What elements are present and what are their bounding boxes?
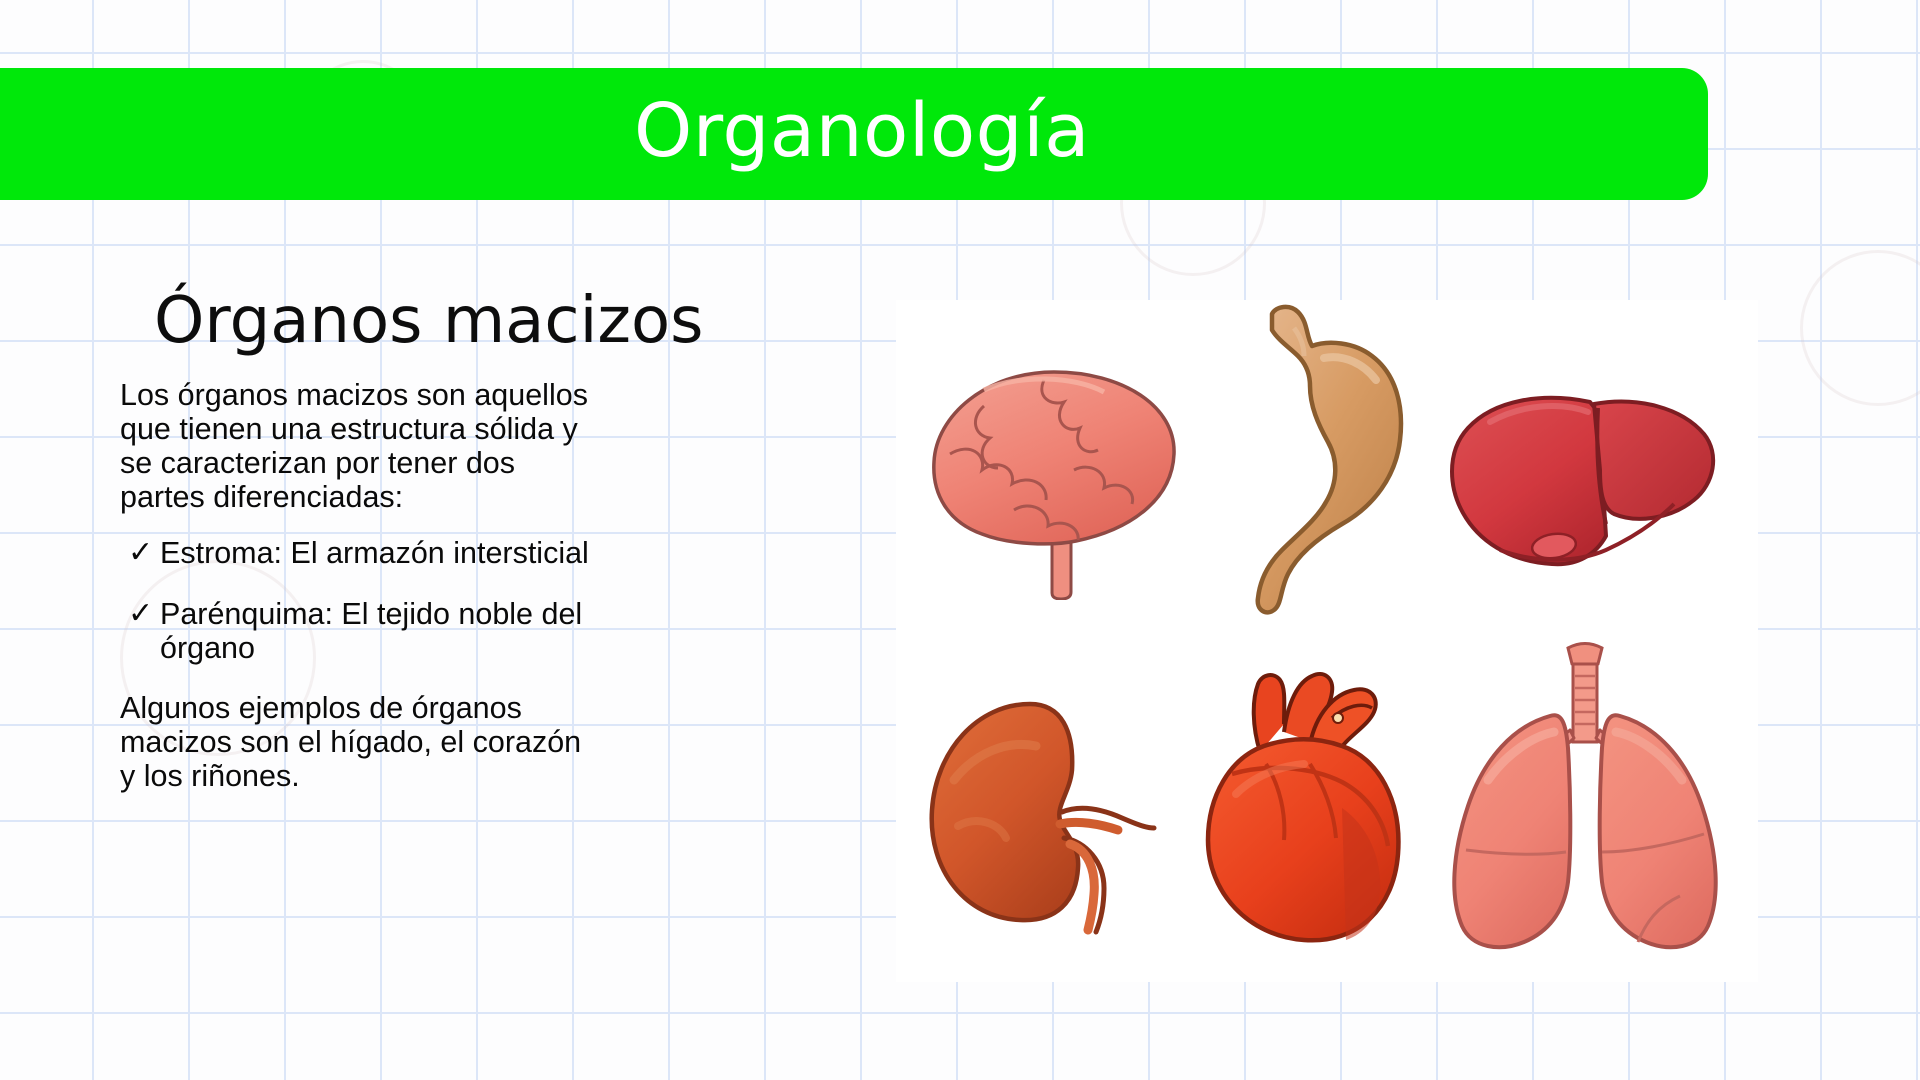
closing-paragraph: Algunos ejemplos de órganos macizos son … (120, 691, 760, 793)
intro-paragraph: Los órganos macizos son aquellos que tie… (120, 378, 760, 515)
stomach-illustration (1232, 292, 1422, 622)
checkmark-icon: ✓ (128, 597, 160, 631)
list-item-label: Estroma: El armazón intersticial (160, 536, 589, 570)
content-text-column: Órganos macizos Los órganos macizos son … (120, 288, 800, 815)
brain-illustration (924, 350, 1184, 600)
organ-illustration-panel (896, 300, 1758, 982)
liver-illustration (1442, 378, 1722, 578)
title-banner: Organología (0, 68, 1708, 200)
kidney-illustration (914, 688, 1184, 938)
list-item-label: Parénquima: El tejido noble del órgano (160, 597, 582, 665)
list-item: ✓ Estroma: El armazón intersticial (120, 536, 780, 570)
page-title: Órganos macizos (154, 288, 800, 356)
lungs-illustration (1442, 630, 1728, 960)
checkmark-icon: ✓ (128, 536, 160, 570)
heart-illustration (1192, 640, 1442, 948)
slide-canvas: Organología Órganos macizos Los órganos … (0, 0, 1920, 1080)
slide-title: Organología (604, 94, 1090, 174)
list-item: ✓ Parénquima: El tejido noble del órgano (120, 597, 780, 665)
